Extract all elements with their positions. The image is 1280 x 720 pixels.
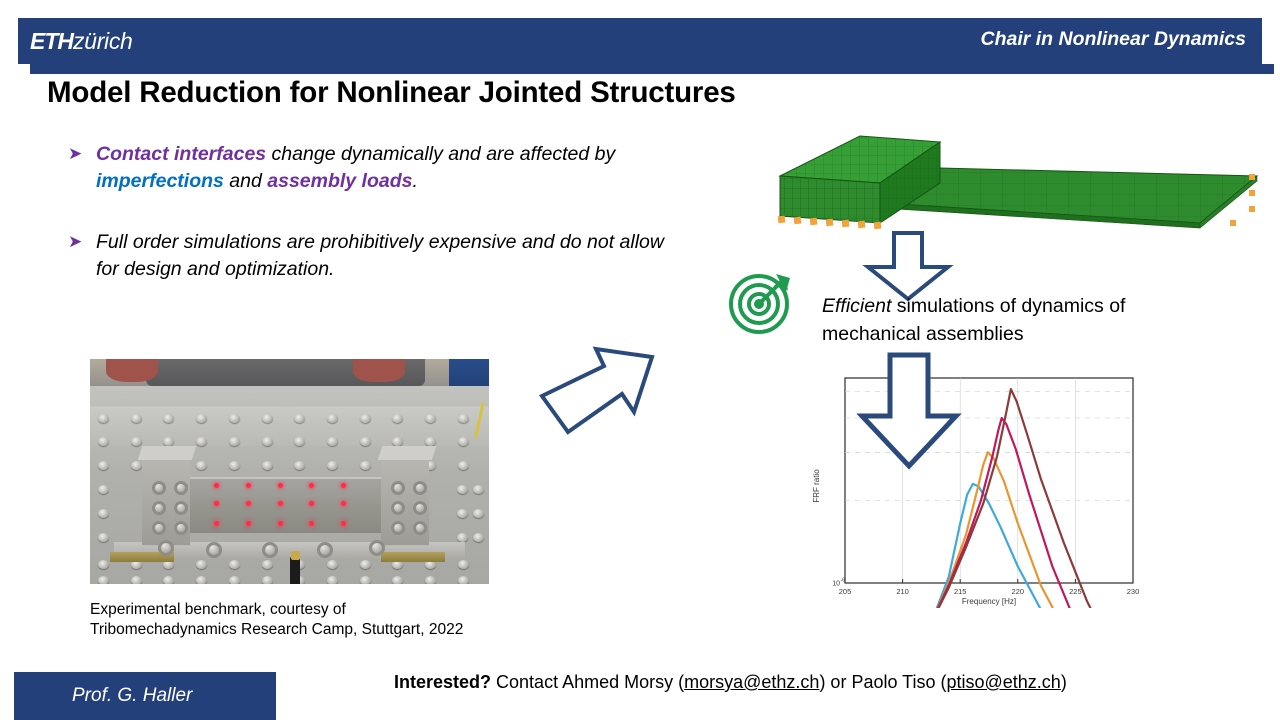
finite-element-mesh-graphic	[760, 128, 1260, 238]
photo-bolt	[262, 461, 273, 470]
photo-bolt	[98, 485, 109, 494]
chair-title: Chair in Nonlinear Dynamics	[981, 28, 1247, 51]
down-arrow-to-goal	[860, 231, 956, 301]
photo-caption: Experimental benchmark, courtesy of Trib…	[90, 600, 463, 640]
goal-text-italic: Efficient	[822, 295, 891, 317]
contact-text-3: )	[1061, 672, 1067, 692]
photo-clamp-cap	[138, 446, 197, 460]
photo-laser-point	[246, 483, 251, 488]
photo-clamp-bolt	[174, 521, 188, 535]
photo-clamp-bolt	[413, 501, 427, 515]
curved-arrow-up-right	[534, 334, 684, 454]
photo-gold-plate	[381, 552, 445, 562]
photo-bolt	[425, 414, 436, 423]
photo-bolt	[131, 414, 142, 423]
bullet-arrow-icon: ➤	[68, 229, 96, 255]
contact-line: Interested? Contact Ahmed Morsy (morsya@…	[394, 672, 1067, 693]
contact-text-1: Contact Ahmed Morsy (	[491, 672, 684, 692]
photo-bolt	[327, 560, 338, 569]
bullet-text: Full order simulations are prohibitively…	[96, 229, 668, 283]
photo-bolt	[457, 509, 468, 518]
eth-logo-bold: ETH	[30, 28, 73, 54]
photo-clamp-bolt	[391, 521, 405, 535]
photo-bolt	[294, 461, 305, 470]
photo-caption-line-1: Experimental benchmark, courtesy of	[90, 600, 463, 620]
photo-bolt	[458, 560, 469, 569]
svg-text:230: 230	[1127, 587, 1140, 596]
photo-bolt	[98, 414, 109, 423]
photo-clamp-bolt	[152, 521, 166, 535]
photo-clamp-bolt	[152, 501, 166, 515]
bullet-item: ➤ Full order simulations are prohibitive…	[68, 229, 668, 283]
bullet-segment-plain: change dynamically and are affected by	[266, 143, 615, 165]
photo-bolt	[229, 576, 240, 584]
slide-root: ETHzürich Chair in Nonlinear Dynamics Mo…	[0, 0, 1280, 720]
presenter-badge: Prof. G. Haller	[14, 672, 276, 720]
photo-bolt	[229, 560, 240, 569]
email-link-tiso[interactable]: ptiso@ethz.ch	[946, 672, 1060, 692]
photo-bolt	[131, 461, 142, 470]
photo-clamp-cap	[377, 446, 436, 460]
photo-bolt	[98, 560, 109, 569]
photo-bolt	[294, 414, 305, 423]
goal-text: Efficient simulations of dynamics of mec…	[822, 292, 1222, 348]
photo-bolt	[457, 533, 468, 542]
photo-bolt	[262, 576, 273, 584]
bullet-segment-plain: and	[224, 170, 267, 192]
photo-laser-point	[246, 521, 251, 526]
photo-bolt	[473, 485, 484, 494]
down-arrow-to-plot	[854, 352, 964, 470]
photo-bolt	[360, 414, 371, 423]
photo-base-bolt	[262, 542, 278, 558]
svg-text:Frequency [Hz]: Frequency [Hz]	[962, 597, 1016, 606]
photo-test-table	[90, 386, 489, 584]
bullet-segment-plain: .	[413, 170, 418, 192]
photo-sensor-cable	[290, 556, 300, 584]
photo-bolt	[98, 533, 109, 542]
photo-laser-point	[214, 521, 219, 526]
svg-text:10: 10	[832, 581, 840, 588]
photo-bolt	[98, 509, 109, 518]
photo-laser-point	[214, 501, 219, 506]
photo-sensor-connector	[291, 551, 300, 560]
photo-bolt	[98, 461, 109, 470]
photo-clamp-bolt	[174, 481, 188, 495]
photo-bolt	[327, 414, 338, 423]
photo-bolt	[473, 509, 484, 518]
photo-caption-line-2: Tribomechadynamics Research Camp, Stuttg…	[90, 620, 463, 640]
photo-bolt	[196, 461, 207, 470]
email-link-morsy[interactable]: morsya@ethz.ch	[684, 672, 819, 692]
photo-laser-point	[278, 483, 283, 488]
photo-bolt	[392, 576, 403, 584]
photo-bolt	[458, 414, 469, 423]
photo-bolt	[425, 576, 436, 584]
photo-clamp-bolt	[174, 501, 188, 515]
photo-laser-point	[246, 501, 251, 506]
eth-logo-light: zürich	[73, 28, 133, 54]
contact-prompt: Interested?	[394, 672, 491, 692]
photo-bolt	[360, 576, 371, 584]
page-title: Model Reduction for Nonlinear Jointed St…	[47, 76, 736, 110]
target-bullseye-icon	[728, 268, 794, 334]
bullet-item: ➤ Contact interfaces change dynamically …	[68, 141, 668, 195]
bullet-arrow-icon: ➤	[68, 141, 96, 167]
photo-bolt	[229, 461, 240, 470]
photo-bolt	[458, 576, 469, 584]
bullet-segment-highlight: imperfections	[96, 170, 224, 192]
photo-bolt	[262, 414, 273, 423]
photo-bolt	[229, 414, 240, 423]
photo-bolt	[473, 533, 484, 542]
eth-zurich-logo: ETHzürich	[30, 28, 133, 55]
photo-bolt	[360, 461, 371, 470]
photo-bolt	[98, 576, 109, 584]
photo-bolt	[457, 485, 468, 494]
photo-bolt	[163, 576, 174, 584]
header-shadow-strip	[30, 64, 1274, 74]
svg-text:205: 205	[839, 587, 852, 596]
photo-bolt	[131, 576, 142, 584]
photo-bolt	[196, 560, 207, 569]
bullet-segment-highlight: Contact interfaces	[96, 143, 266, 165]
bullet-list: ➤ Contact interfaces change dynamically …	[68, 141, 668, 317]
photo-bolt	[196, 576, 207, 584]
photo-bolt	[327, 576, 338, 584]
photo-clamp-bolt	[152, 481, 166, 495]
photo-bolt	[327, 461, 338, 470]
photo-bolt	[196, 414, 207, 423]
presenter-name: Prof. G. Haller	[72, 685, 192, 707]
svg-text:215: 215	[954, 587, 967, 596]
experimental-benchmark-photo	[90, 359, 489, 584]
svg-text:210: 210	[896, 587, 909, 596]
svg-text:FRF ratio: FRF ratio	[812, 469, 821, 503]
photo-jointed-beam	[178, 477, 397, 532]
photo-bolt	[262, 560, 273, 569]
photo-red-fixture-right	[353, 359, 405, 382]
photo-red-fixture-left	[106, 359, 158, 382]
photo-clamp-bolt	[413, 521, 427, 535]
photo-laser-point	[278, 521, 283, 526]
photo-clamp-bolt	[391, 501, 405, 515]
contact-text-2: ) or Paolo Tiso (	[819, 672, 946, 692]
photo-bolt	[458, 461, 469, 470]
photo-bolt	[360, 560, 371, 569]
svg-text:220: 220	[1012, 587, 1025, 596]
svg-text:225: 225	[1069, 587, 1082, 596]
bullet-segment-highlight: assembly loads	[267, 170, 412, 192]
photo-laser-point	[214, 483, 219, 488]
svg-text:-6: -6	[841, 578, 846, 584]
bullet-text: Contact interfaces change dynamically an…	[96, 141, 668, 195]
photo-laser-point	[278, 501, 283, 506]
